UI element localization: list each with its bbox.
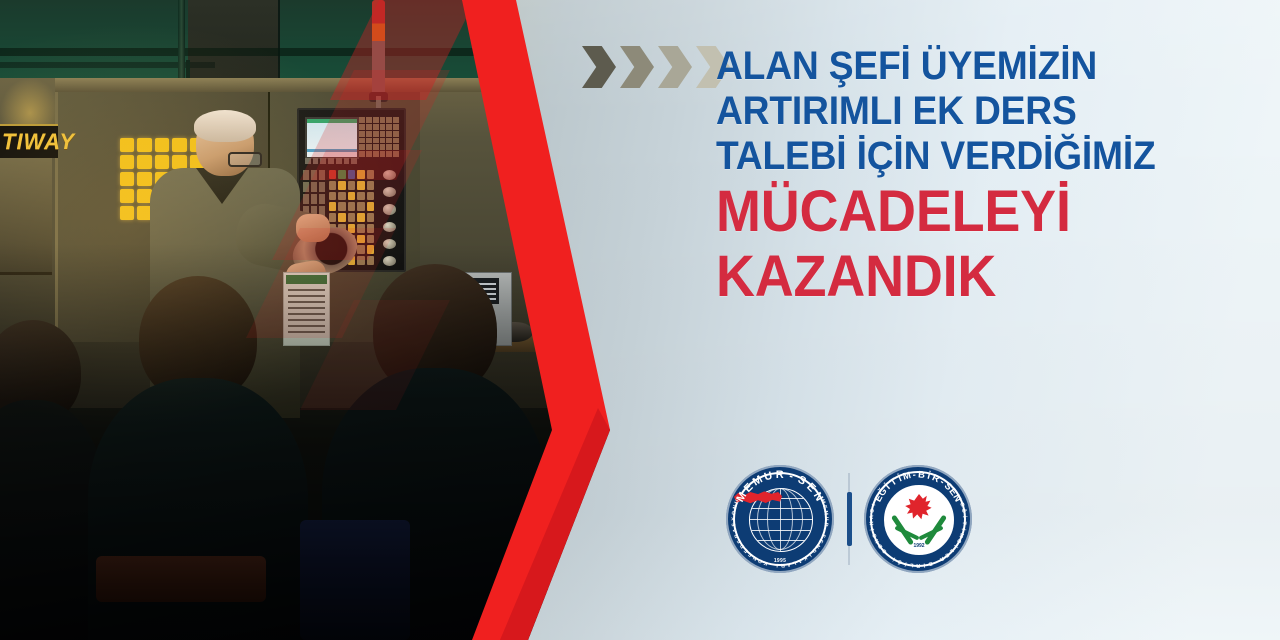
headline-line-3: TALEBİ İÇİN VERDİĞİMİZ	[716, 134, 1218, 179]
headline-line-2: ARTIRIMLI EK DERS	[716, 89, 1218, 134]
memur-sen-logo: MEMUR-SEN MEMUR SENDİKALARI KONFEDERASYO…	[726, 465, 834, 573]
headline-line-4: MÜCADELEYİ	[716, 179, 1218, 244]
chevron-arrow-icon-2	[620, 46, 654, 88]
logo-lockup: MEMUR-SEN MEMUR SENDİKALARI KONFEDERASYO…	[726, 458, 982, 580]
egitim-bir-sen-logo: 1992 EĞİTİM-BİR-SEN EĞİTİMCİLER BİRLİĞİ …	[864, 465, 972, 573]
headline-line-1: ALAN ŞEFİ ÜYEMİZİN	[716, 44, 1218, 89]
chevron-arrow-icon-3	[658, 46, 692, 88]
banner-root: TIWAY	[0, 0, 1280, 640]
headline-block: ALAN ŞEFİ ÜYEMİZİN ARTIRIMLI EK DERS TAL…	[716, 44, 1256, 309]
egitim-bir-sen-bottom-arc: EĞİTİMCİLER BİRLİĞİ SENDİKASI	[864, 465, 972, 573]
memur-sen-year: 1995	[774, 558, 786, 564]
logo-separator	[844, 465, 854, 573]
headline-line-5: KAZANDIK	[716, 244, 1218, 309]
memur-sen-bottom-arc: MEMUR SENDİKALARI KONFEDERASYONU	[726, 465, 834, 573]
chevron-arrow-icon-1	[582, 46, 616, 88]
chevron-arrow-row	[582, 46, 730, 88]
